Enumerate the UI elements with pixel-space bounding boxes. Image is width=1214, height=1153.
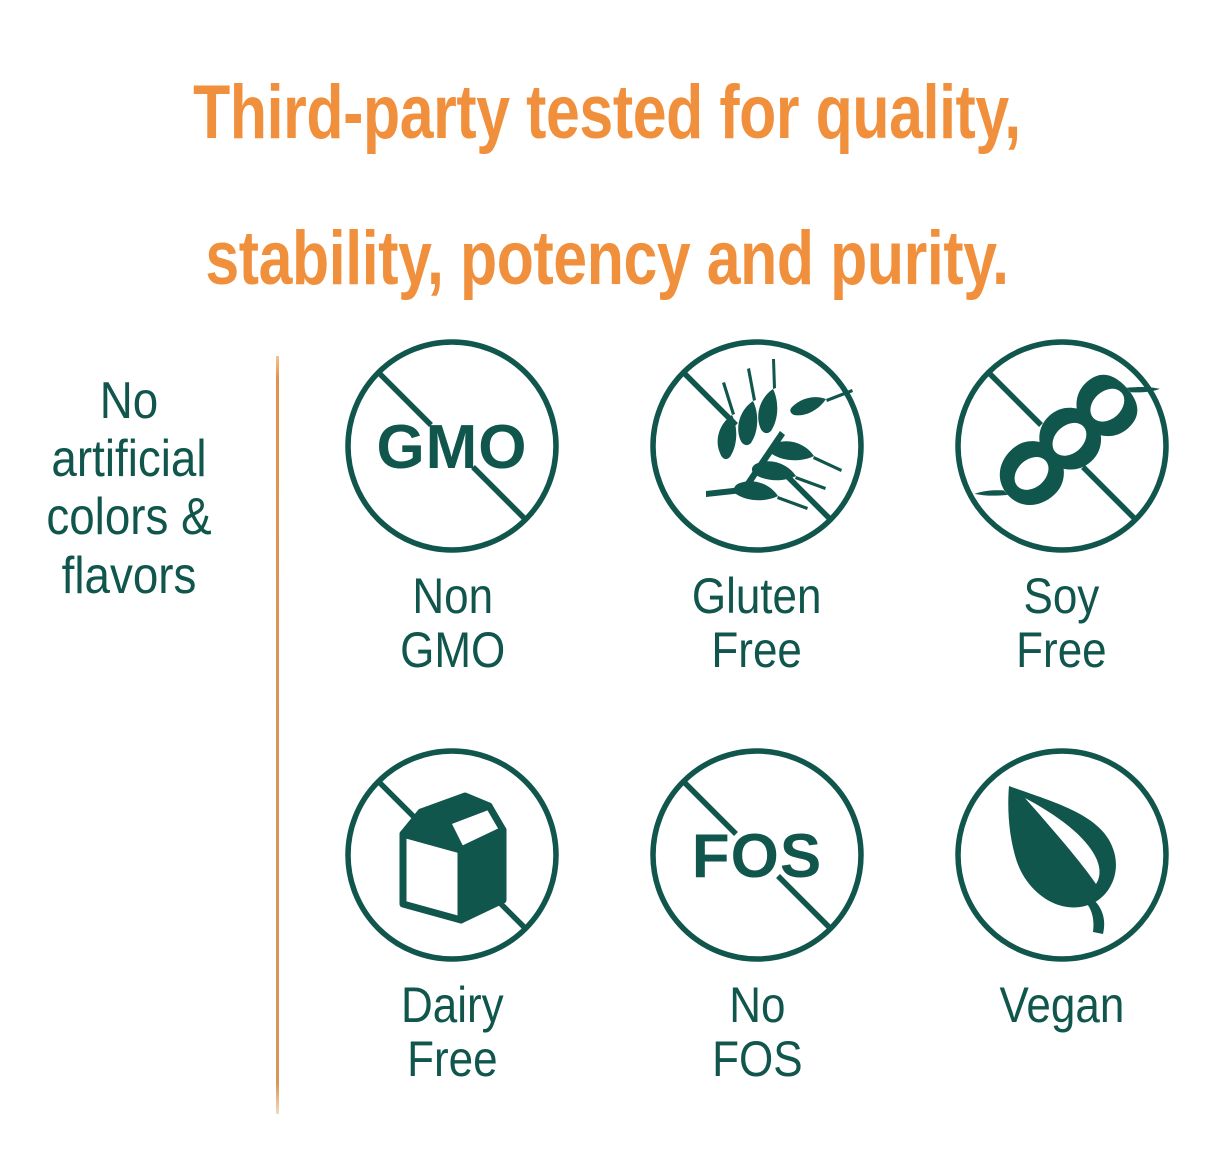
badge-non-gmo: GMO Non GMO bbox=[300, 335, 605, 744]
badge-label-vegan: Vegan bbox=[999, 978, 1124, 1032]
no-soybean-icon bbox=[951, 335, 1173, 557]
no-wheat-icon bbox=[646, 335, 868, 557]
badge-label-no-fos: No FOS bbox=[712, 978, 802, 1086]
milk-carton-shape bbox=[403, 796, 503, 920]
badge-label-non-gmo: Non GMO bbox=[400, 569, 505, 677]
no-artificial-colors-flavors-text: No artificial colors & flavors bbox=[15, 372, 242, 605]
badge-gluten-free: Gluten Free bbox=[605, 335, 910, 744]
page-headline: Third-party tested for quality, stabilit… bbox=[121, 4, 1092, 369]
badge-soy-free: Soy Free bbox=[909, 335, 1214, 744]
certification-badge-grid: GMO Non GMO bbox=[300, 335, 1214, 1153]
badge-label-gluten-free: Gluten Free bbox=[692, 569, 822, 677]
badge-dairy-free: Dairy Free bbox=[300, 744, 605, 1153]
badge-no-fos: FOS No FOS bbox=[605, 744, 910, 1153]
no-milk-carton-icon bbox=[341, 744, 563, 966]
headline-line-1: Third-party tested for quality, bbox=[121, 77, 1092, 150]
vertical-divider bbox=[276, 356, 279, 1114]
gmo-letters: GMO bbox=[377, 413, 528, 482]
leaf-icon bbox=[951, 744, 1173, 966]
badge-label-dairy-free: Dairy Free bbox=[401, 978, 504, 1086]
no-gmo-icon: GMO bbox=[341, 335, 563, 557]
fos-letters: FOS bbox=[692, 822, 822, 891]
badge-label-soy-free: Soy Free bbox=[1016, 569, 1106, 677]
no-fos-icon: FOS bbox=[646, 744, 868, 966]
wheat-stalk-shape bbox=[706, 359, 853, 510]
leaf-shape bbox=[1008, 786, 1116, 934]
headline-line-2: stability, potency and purity. bbox=[121, 223, 1092, 296]
badge-vegan: Vegan bbox=[909, 744, 1214, 1153]
